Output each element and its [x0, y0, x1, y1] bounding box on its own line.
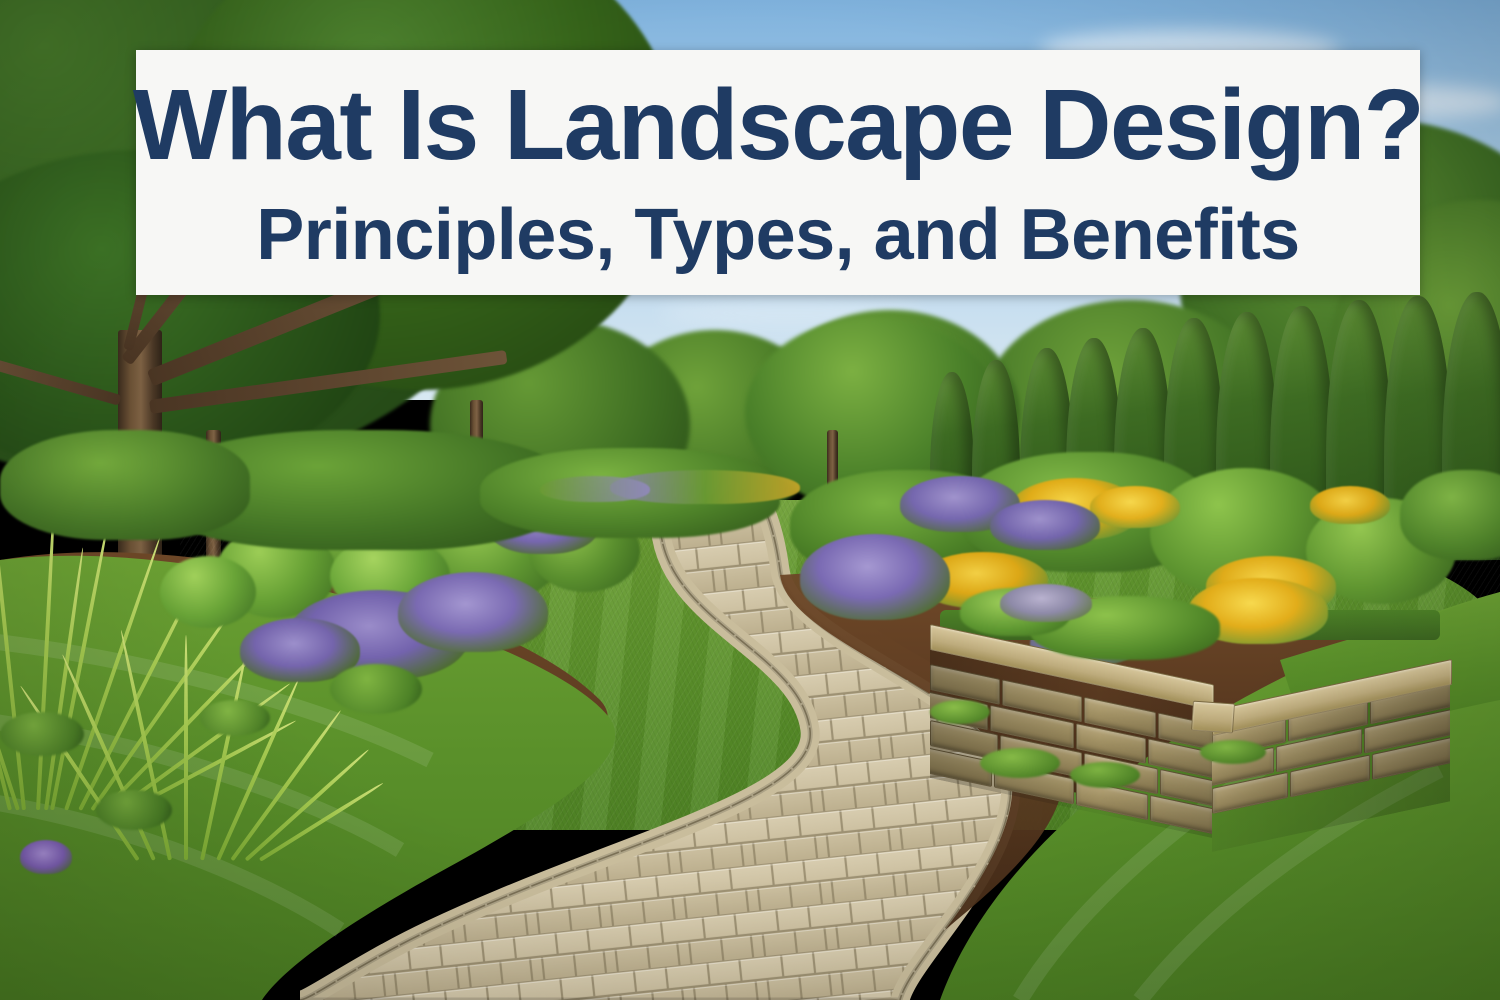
purple-perennials — [800, 534, 950, 620]
groundcover-clump — [0, 712, 84, 756]
groundcover-clump — [330, 664, 422, 714]
base-groundcover — [1070, 762, 1140, 788]
boxwood-sphere — [160, 556, 256, 628]
base-groundcover — [980, 748, 1060, 778]
landscape-hero-image: What Is Landscape Design? Principles, Ty… — [0, 0, 1500, 1000]
yellow-perennials — [1090, 486, 1180, 528]
groundcover-clump — [200, 700, 270, 736]
capstone-corner — [1191, 701, 1235, 734]
page-subtitle: Principles, Types, and Benefits — [256, 199, 1299, 271]
base-groundcover — [930, 700, 990, 724]
planter-lavender — [1000, 584, 1092, 622]
distant-flower-band — [540, 476, 650, 502]
purple-perennials — [20, 840, 72, 874]
perennial-mass — [1400, 470, 1500, 560]
title-card: What Is Landscape Design? Principles, Ty… — [136, 50, 1420, 295]
page-title: What Is Landscape Design? — [133, 75, 1424, 175]
purple-perennials — [990, 500, 1100, 550]
groundcover-clump — [96, 790, 172, 830]
base-groundcover — [1200, 740, 1266, 764]
purple-perennials — [398, 572, 548, 652]
background-shrub-mass — [0, 430, 250, 540]
yellow-perennials — [1310, 486, 1390, 524]
